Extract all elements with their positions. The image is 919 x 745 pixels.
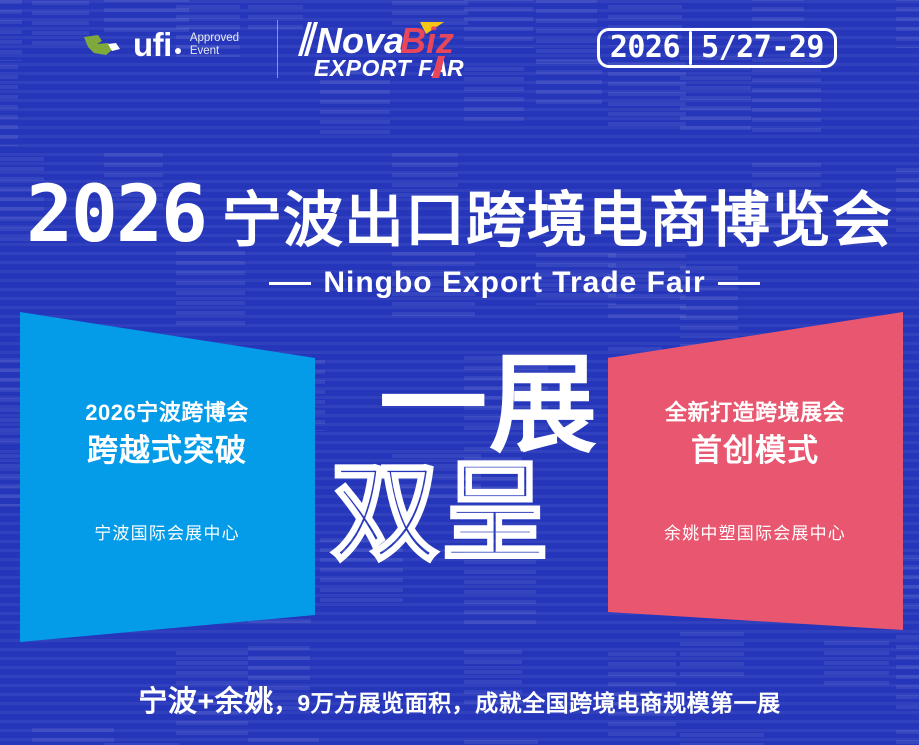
left-panel-line2: 跨越式突破 — [32, 432, 302, 471]
novabiz-export-fair-logo: Nova Biz EXPORT FA R — [292, 20, 477, 82]
tagline-rest: ，9万方展览面积，成就全国跨境电商规模第一展 — [274, 690, 781, 716]
headline-year: 2026 — [26, 176, 206, 254]
top-bar-divider — [277, 20, 278, 78]
headline-english-title: Ningbo Export Trade Fair — [323, 266, 705, 300]
right-panel-line1: 全新打造跨境展会 — [620, 400, 890, 426]
bottom-tagline: 宁波+余姚，9万方展览面积，成就全国跨境电商规模第一展 — [0, 678, 919, 720]
left-panel-line1: 2026宁波跨博会 — [32, 400, 302, 426]
headline-rule-left — [269, 282, 311, 285]
right-panel-label: 全新打造跨境展会 首创模式 余姚中塑国际会展中心 — [620, 400, 890, 544]
ufi-approved-line: Approved — [190, 32, 239, 45]
date-year: 2026 — [600, 31, 689, 65]
date-badge: 2026 5/27-29 — [597, 28, 837, 68]
top-bar: ufi Approved Event Nova Biz EXPORT FA R … — [0, 0, 919, 100]
ufi-dot-icon — [175, 48, 181, 54]
ufi-event-line: Event — [190, 45, 239, 58]
left-panel-venue: 宁波国际会展中心 — [32, 519, 302, 544]
ufi-wordmark: ufi — [133, 28, 181, 61]
poster-root: ufi Approved Event Nova Biz EXPORT FA R … — [0, 0, 919, 745]
headline-english-row: Ningbo Export Trade Fair — [0, 266, 919, 300]
right-panel-venue: 余姚中塑国际会展中心 — [620, 519, 890, 544]
center-slogan: 一展 双呈 — [325, 352, 605, 566]
slogan-solid-text: 一展 — [325, 352, 605, 458]
ufi-approval-text: Approved Event — [190, 32, 239, 58]
ufi-approved-event-logo: ufi Approved Event — [82, 28, 239, 61]
novabiz-slashes-icon — [298, 22, 318, 56]
left-panel-label: 2026宁波跨博会 跨越式突破 宁波国际会展中心 — [32, 400, 302, 544]
headline-rule-right — [718, 282, 760, 285]
export-fair-left-text: EXPORT FA — [314, 55, 448, 81]
export-fair-right-text: R — [447, 55, 464, 81]
headline-main-row: 2026 宁波出口跨境电商博览会 — [0, 176, 919, 254]
date-range: 5/27-29 — [692, 31, 834, 65]
slogan-outline-text: 双呈 — [325, 460, 605, 566]
ufi-leaf-icon — [82, 31, 126, 59]
headline-block: 2026 宁波出口跨境电商博览会 Ningbo Export Trade Fai… — [0, 176, 919, 300]
tagline-strong: 宁波+余姚 — [138, 686, 273, 718]
right-panel-line2: 首创模式 — [620, 432, 890, 471]
headline-chinese-title: 宁波出口跨境电商博览会 — [222, 191, 893, 251]
